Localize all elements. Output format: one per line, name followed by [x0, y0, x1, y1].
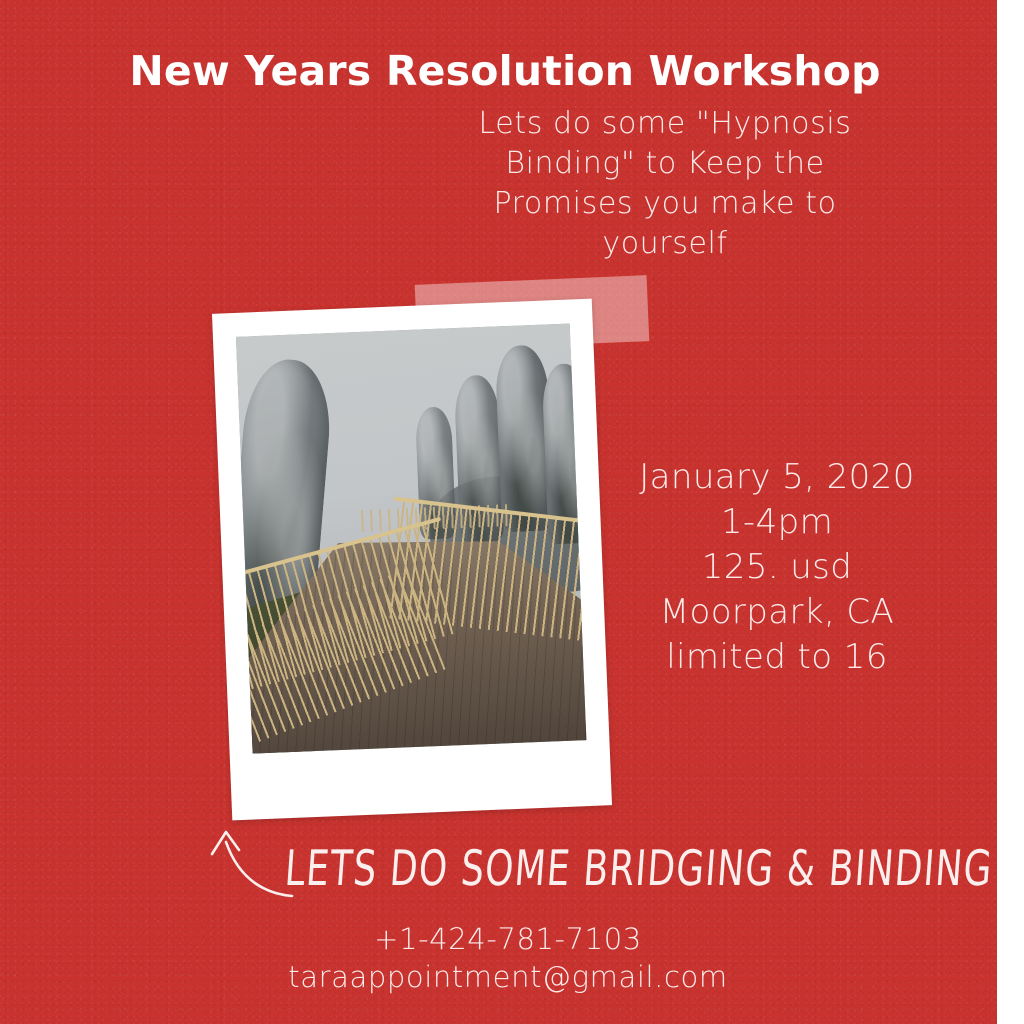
- handwritten-tagline: LETS DO SOME BRIDGING & BINDING: [283, 841, 995, 897]
- event-time: 1-4pm: [616, 500, 938, 545]
- event-details: January 5, 2020 1-4pm 125. usd Moorpark,…: [616, 455, 938, 680]
- right-white-margin: [997, 0, 1024, 1024]
- contact-phone[interactable]: +1-424-781-7103: [148, 920, 868, 958]
- event-capacity: limited to 16: [616, 635, 938, 680]
- contact-email[interactable]: taraappointment@gmail.com: [148, 958, 868, 996]
- golden-bridge-photo: [236, 323, 586, 753]
- page-title: New Years Resolution Workshop: [0, 47, 1010, 95]
- poster-canvas: New Years Resolution Workshop Lets do so…: [0, 0, 1024, 1024]
- event-date: January 5, 2020: [616, 455, 938, 500]
- photo-frame: [212, 299, 612, 821]
- contact-block: +1-424-781-7103 taraappointment@gmail.co…: [148, 920, 868, 996]
- event-location: Moorpark, CA: [616, 590, 938, 635]
- page-subtitle: Lets do some "Hypnosis Binding" to Keep …: [455, 104, 875, 264]
- event-price: 125. usd: [616, 545, 938, 590]
